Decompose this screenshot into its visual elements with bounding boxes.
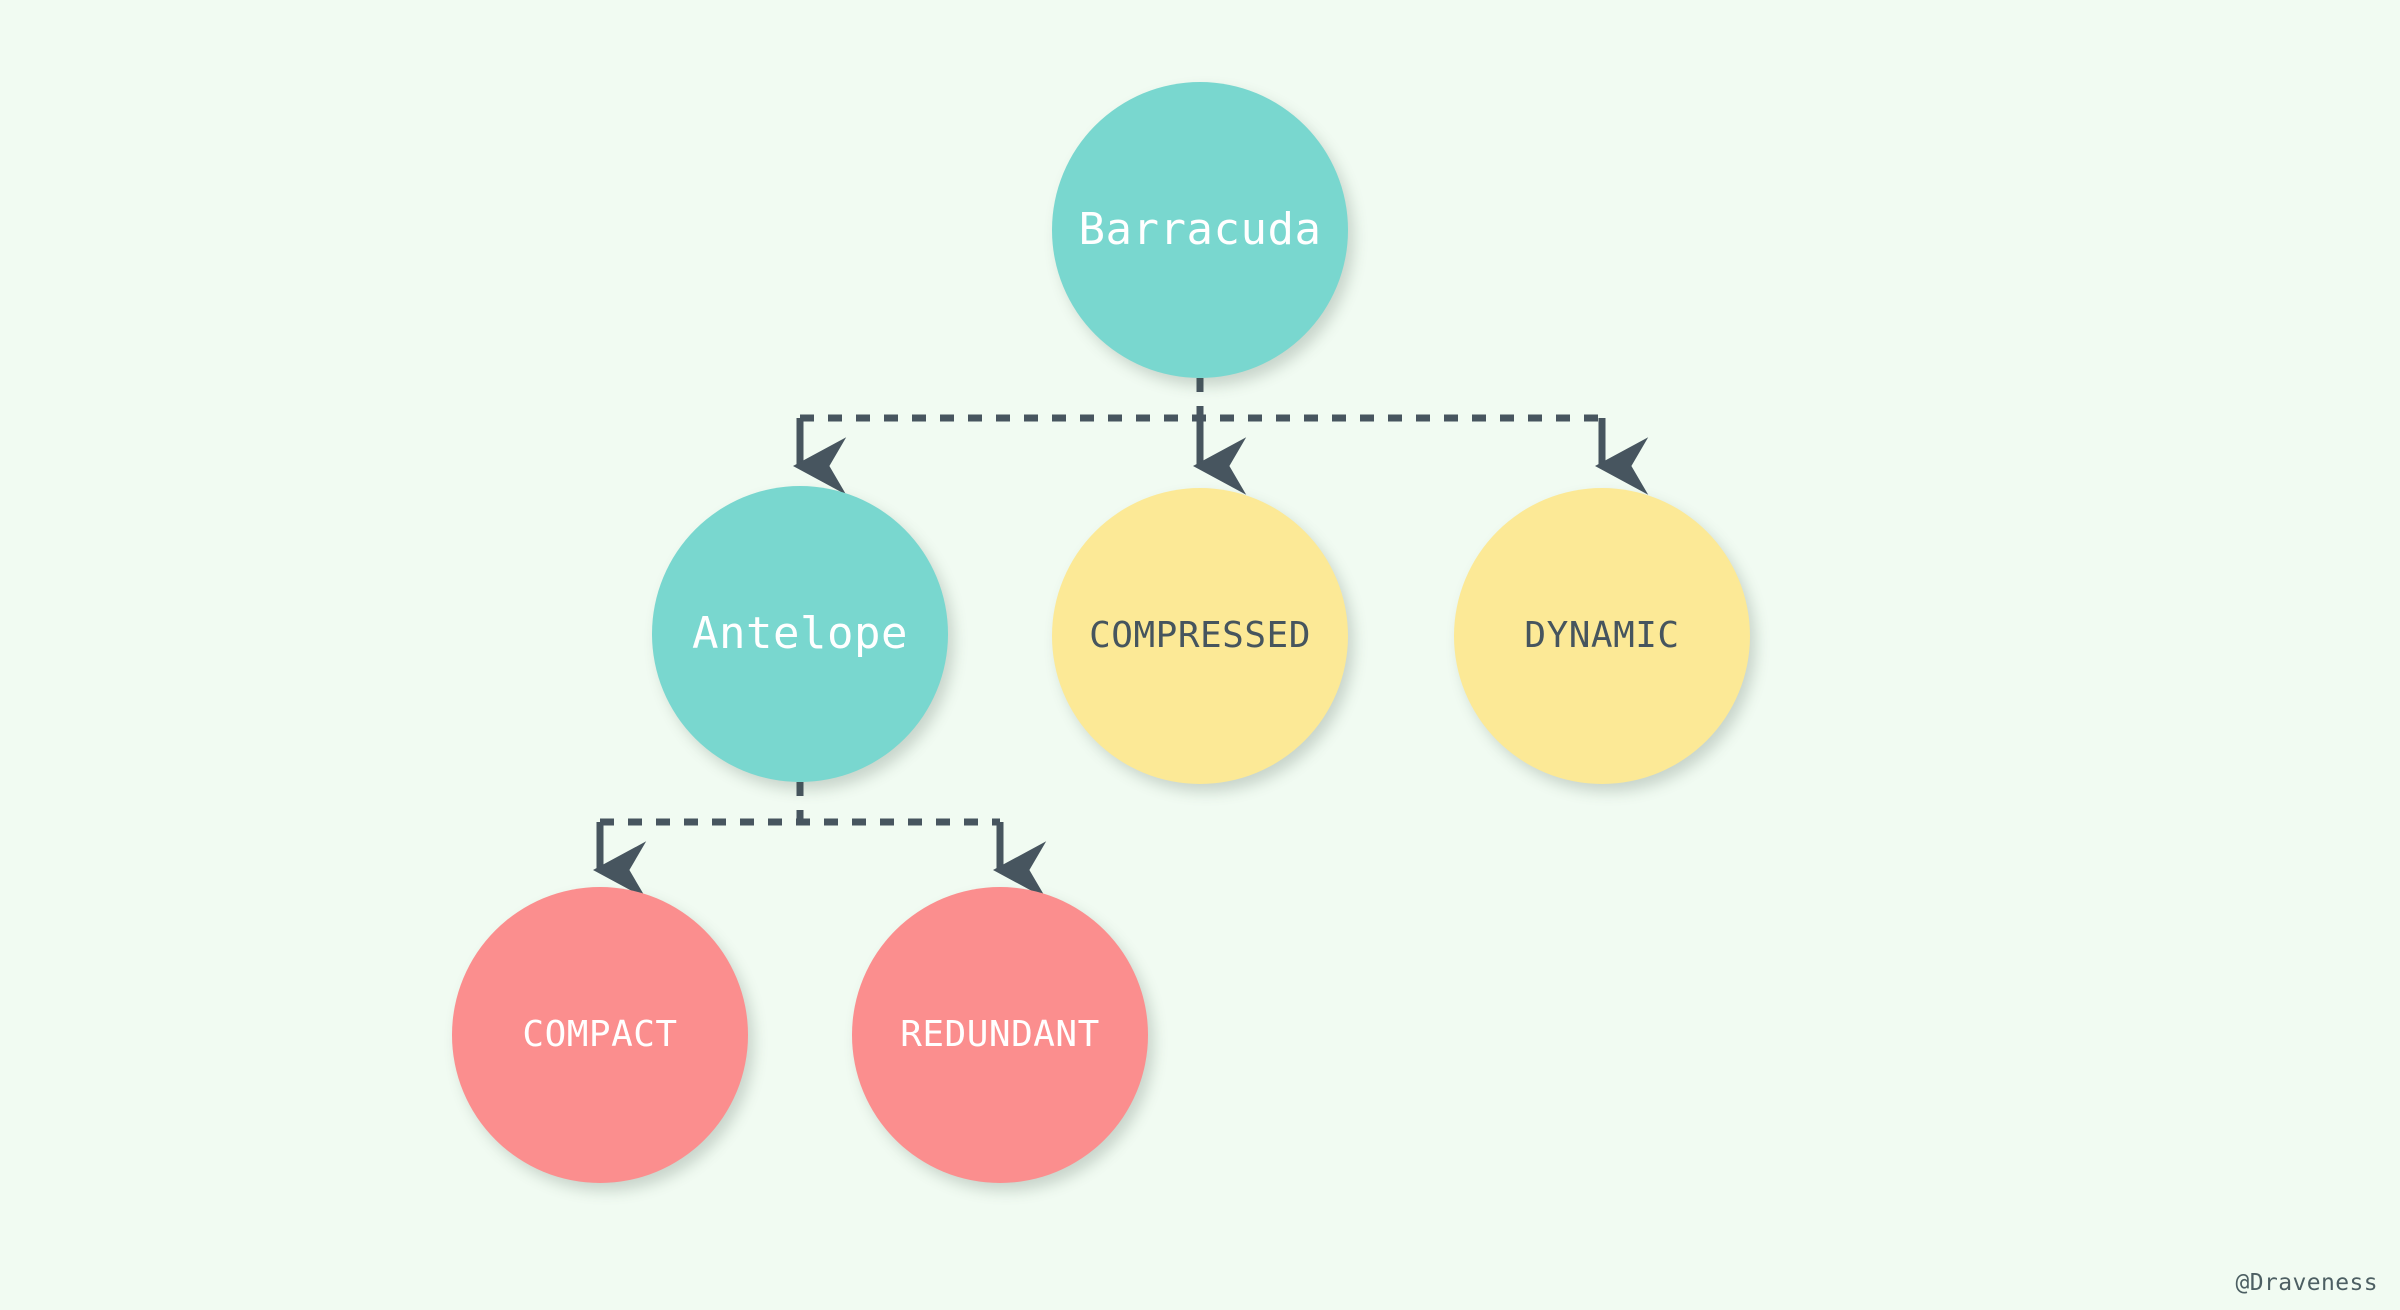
node-compressed[interactable]: COMPRESSED bbox=[1052, 488, 1348, 784]
node-label-barracuda: Barracuda bbox=[1079, 208, 1322, 252]
node-barracuda[interactable]: Barracuda bbox=[1052, 82, 1348, 378]
node-label-compact: COMPACT bbox=[522, 1017, 677, 1053]
watermark-label: @Draveness bbox=[2236, 1270, 2378, 1296]
node-redundant[interactable]: REDUNDANT bbox=[852, 887, 1148, 1183]
node-label-dynamic: DYNAMIC bbox=[1524, 618, 1679, 654]
node-label-compressed: COMPRESSED bbox=[1089, 618, 1311, 654]
diagram-canvas: Barracuda Antelope COMPRESSED DYNAMIC CO… bbox=[0, 0, 2400, 1310]
node-label-antelope: Antelope bbox=[692, 612, 908, 656]
node-antelope[interactable]: Antelope bbox=[652, 486, 948, 782]
node-compact[interactable]: COMPACT bbox=[452, 887, 748, 1183]
node-dynamic[interactable]: DYNAMIC bbox=[1454, 488, 1750, 784]
node-label-redundant: REDUNDANT bbox=[900, 1017, 1100, 1053]
